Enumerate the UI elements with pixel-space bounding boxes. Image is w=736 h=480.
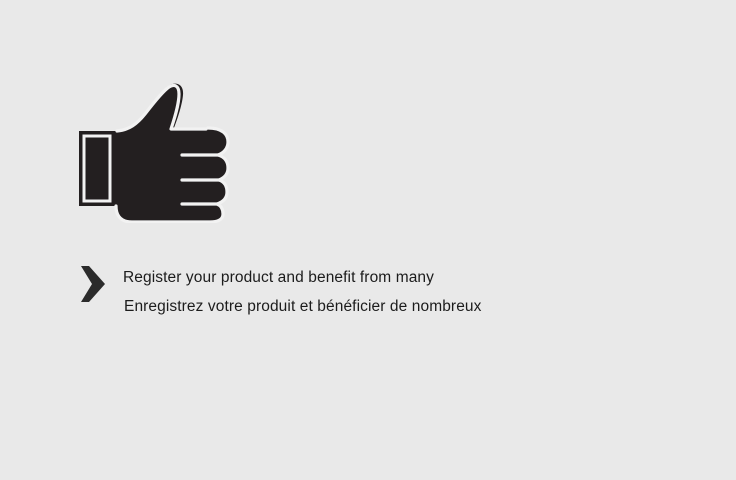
thumbs-up-icon [70, 78, 240, 223]
chevron-right-icon [78, 264, 108, 304]
message-line-fr: Enregistrez votre produit et bénéficier … [123, 292, 481, 321]
promo-panel: Register your product and benefit from m… [0, 0, 736, 480]
registration-message: Register your product and benefit from m… [78, 262, 678, 321]
thumbs-up-glyph [79, 84, 228, 222]
message-lines: Register your product and benefit from m… [123, 262, 481, 321]
message-line-en: Register your product and benefit from m… [123, 263, 481, 292]
